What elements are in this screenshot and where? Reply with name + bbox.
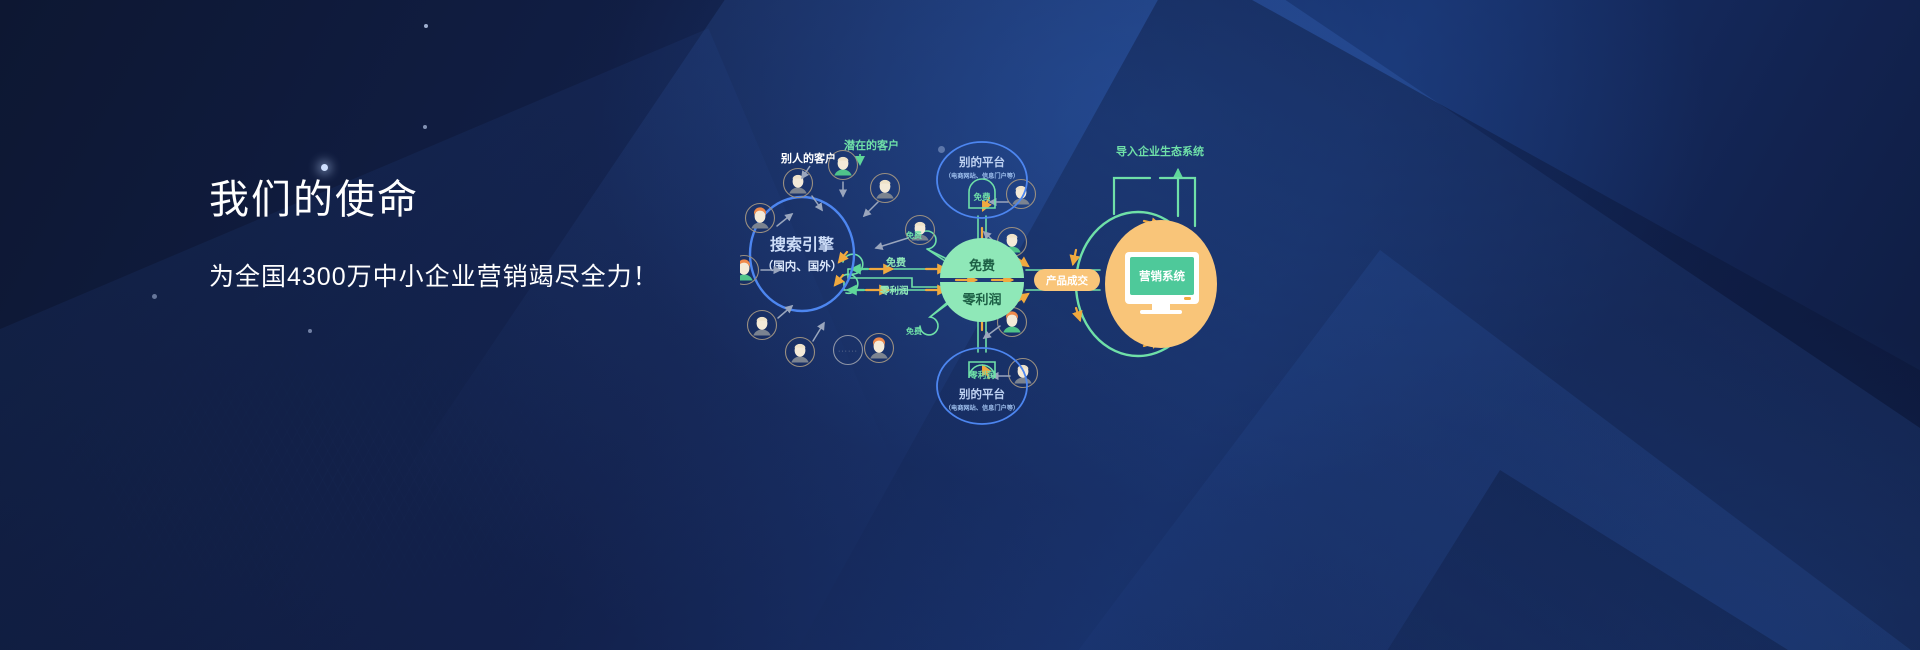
platform-top-title: 别的平台 — [958, 155, 1005, 169]
deal-label: 产品成交 — [1046, 274, 1088, 287]
avatar[interactable] — [865, 334, 894, 363]
label-zero-profit-left: 零利润 — [879, 285, 909, 297]
hub-bottom-label: 零利润 — [961, 292, 1001, 307]
avatar[interactable] — [1007, 180, 1036, 209]
deal-pill[interactable]: 产品成交 — [1034, 269, 1100, 291]
label-free-lower: 免费 — [906, 326, 922, 336]
node-platform-bottom[interactable]: 零利润 别的平台 （电商网站、信息门户等） — [937, 348, 1027, 424]
avatar[interactable] — [871, 174, 900, 203]
star-dot — [321, 164, 328, 171]
star-dot — [423, 125, 427, 129]
avatar[interactable] — [1009, 359, 1038, 388]
avatar[interactable] — [906, 216, 935, 245]
avatar[interactable] — [746, 204, 775, 233]
star-dot — [424, 24, 428, 28]
platform-bottom-pipe-label: 零利润 — [968, 370, 995, 380]
label-others-customers: 别人的客户 — [780, 151, 836, 165]
node-platform-top[interactable]: 别的平台 （电商网站、信息门户等） 免费 — [937, 142, 1027, 218]
search-engine-subtitle: （国内、国外） — [762, 259, 843, 273]
ellipsis-label: ······ — [838, 348, 858, 355]
avatar[interactable] — [784, 169, 813, 198]
star-dot — [152, 294, 157, 299]
platform-bottom-title: 别的平台 — [958, 387, 1005, 401]
marketing-system-label: 营销系统 — [1139, 269, 1185, 283]
hub-top-label: 免费 — [969, 258, 995, 273]
avatar[interactable] — [786, 338, 815, 367]
label-import-ecosystem: 导入企业生态系统 — [1116, 144, 1204, 158]
label-free-upper: 免费 — [906, 230, 922, 240]
flow-labels: 免费 零利润 免费 免费 — [879, 230, 922, 336]
star-dot — [308, 329, 312, 333]
node-marketing-system[interactable]: 营销系统 — [1105, 220, 1217, 348]
avatar[interactable] — [748, 311, 777, 340]
others-customer-arrow — [802, 166, 810, 178]
label-potential-customers: 潜在的客户 — [844, 138, 899, 152]
platform-top-pipe-label: 免费 — [973, 192, 991, 202]
hero-banner: 我们的使命 为全国4300万中小企业营销竭尽全力！ — [0, 0, 1920, 650]
platform-bottom-subtitle: （电商网站、信息门户等） — [945, 404, 1019, 412]
bg-shard-4 — [1203, 470, 1920, 650]
search-engine-title: 搜索引擎 — [770, 235, 835, 254]
more-customers-node[interactable]: ······ — [834, 336, 863, 365]
label-free-left: 免费 — [886, 256, 906, 269]
marketing-ecosystem-diagram: 搜索引擎 （国内、国外） · — [740, 130, 1280, 430]
